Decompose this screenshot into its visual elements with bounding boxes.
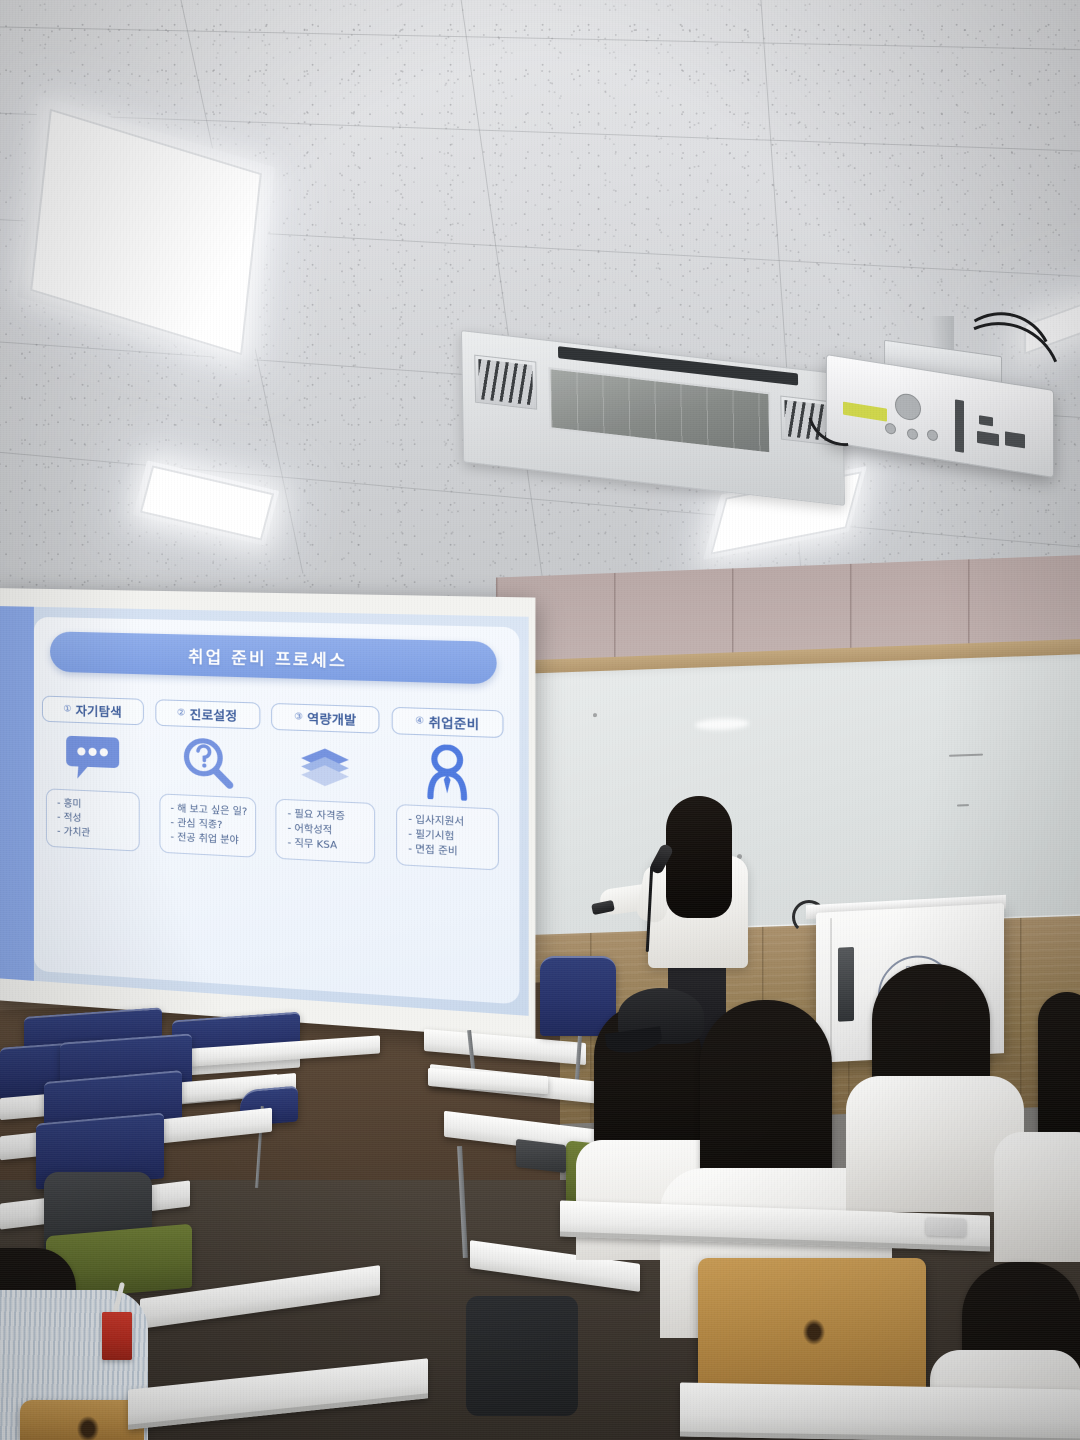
- podium-seam: [830, 918, 832, 1058]
- projector-dpad: [895, 392, 921, 422]
- slide-card-1: ① 자기탐색 - 흥미 - 적성 - 가치관: [42, 696, 144, 853]
- whiteboard-mark: [957, 804, 969, 806]
- slide-card-2-list: - 해 보고 싶은 일? - 관심 직종? - 전공 취업 분야: [159, 793, 256, 858]
- list-item: - 전공 취업 분야: [171, 830, 249, 848]
- ac-louver-vent-left: [474, 355, 537, 410]
- podium-equipment-slot: [838, 947, 854, 1022]
- slide-card-row: ① 자기탐색 - 흥미 - 적성 - 가치관: [42, 696, 504, 872]
- slide-card-4-list: - 입사지원서 - 필기시험 - 면접 준비: [396, 804, 499, 871]
- projector-button: [885, 422, 896, 435]
- magnifier-question-icon: [181, 733, 234, 793]
- slide-card-3-header: ③ 역량개발: [271, 703, 379, 734]
- slide-side-band: [0, 606, 34, 981]
- student-shirt: [994, 1132, 1080, 1262]
- slide-card-4-header: ④ 취업준비: [392, 707, 504, 738]
- chair-wood: [20, 1400, 144, 1440]
- list-item: - 가치관: [57, 825, 132, 843]
- speech-bubble-icon: [65, 729, 120, 788]
- slide-card-2-header: ② 진로설정: [155, 699, 260, 729]
- slide-card-1-label: 자기탐색: [76, 701, 122, 720]
- slide-card-3-list: - 필요 자격증 - 어학성적 - 직무 KSA: [276, 799, 376, 865]
- slide: 취업 준비 프로세스 ① 자기탐색: [0, 606, 529, 1016]
- ac-filter-grille: [548, 367, 771, 454]
- tablet-on-desk: [516, 1139, 566, 1173]
- list-item: - 직무 KSA: [287, 836, 367, 854]
- projector-button: [927, 429, 938, 442]
- projection-screen: 취업 준비 프로세스 ① 자기탐색: [0, 588, 535, 1040]
- desk: [680, 1383, 1080, 1440]
- slide-card-4-label: 취업준비: [429, 713, 480, 733]
- slide-card-4-number: ④: [415, 716, 424, 727]
- juice-box: [102, 1312, 132, 1360]
- person-necktie-icon: [421, 742, 472, 804]
- stacked-books-icon: [297, 737, 353, 798]
- slide-card-1-header: ① 자기탐색: [42, 696, 144, 726]
- slide-title: 취업 준비 프로세스: [188, 643, 347, 672]
- slide-card-2-label: 진로설정: [190, 705, 238, 724]
- slide-card-1-list: - 흥미 - 적성 - 가치관: [46, 788, 140, 852]
- whiteboard-mark: [593, 713, 597, 717]
- slide-card-3: ③ 역량개발 - 필요 자격증 - 어학성적 - 직무 KSA: [271, 703, 379, 865]
- whiteboard-mark: [949, 754, 983, 757]
- slide-card-1-number: ①: [63, 704, 71, 714]
- slide-card-3-number: ③: [294, 712, 303, 723]
- slide-card-3-label: 역량개발: [307, 709, 356, 728]
- list-item: - 면접 준비: [408, 842, 491, 861]
- classroom-photo: 취업 준비 프로세스 ① 자기탐색: [0, 0, 1080, 1440]
- slide-card-4: ④ 취업준비 - 입사지원서 - 필기시험 - 면접 준비: [392, 707, 504, 871]
- phone-on-desk: [926, 1217, 966, 1236]
- whiteboard-glare: [695, 718, 749, 731]
- presenter-hair: [666, 796, 732, 918]
- backpack: [466, 1296, 578, 1416]
- slide-card-2-number: ②: [177, 708, 185, 719]
- projector-button: [907, 428, 918, 441]
- slide-card-2: ② 진로설정 - 해 보고 싶은 일? - 관심 직종?: [155, 699, 260, 858]
